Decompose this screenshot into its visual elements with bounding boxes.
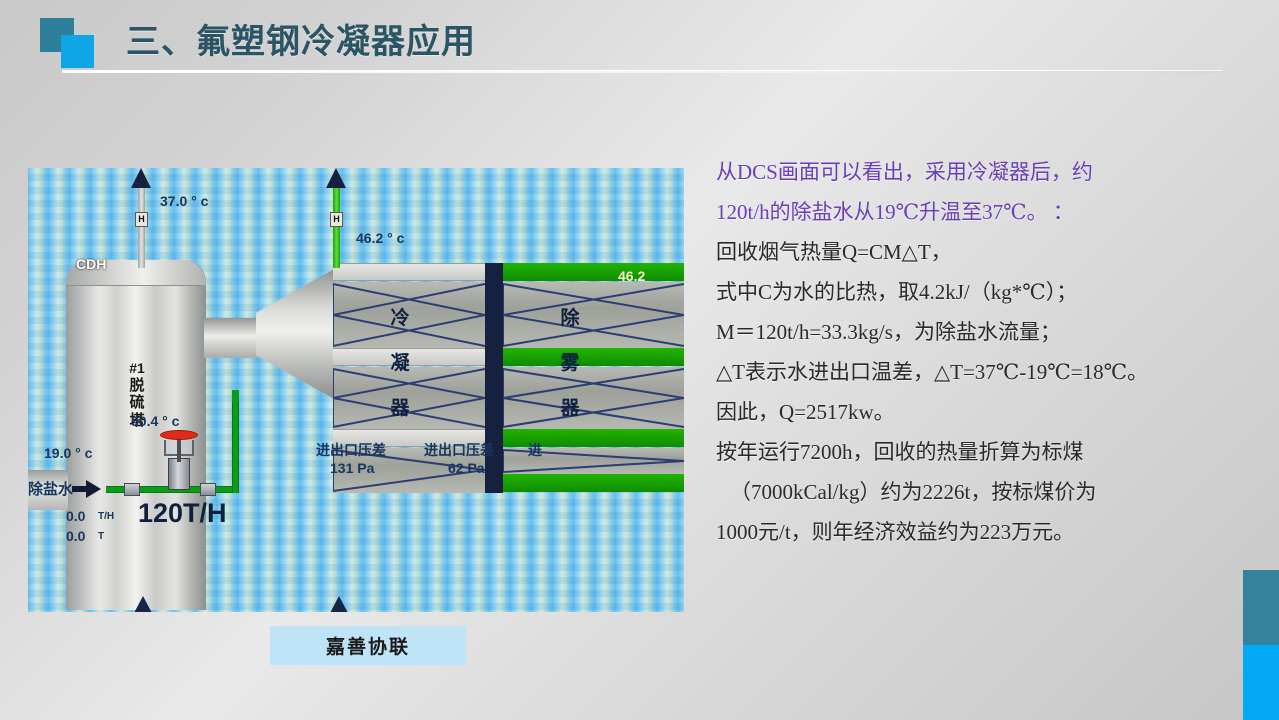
demister-stack-h-badge: H [330, 212, 343, 227]
condenser-char-1: 冷 [385, 303, 415, 330]
demister-outlet-temp: 46.2 ° c [356, 230, 404, 246]
page-title: 三、氟塑钢冷凝器应用 [126, 14, 476, 63]
demister-char-2: 雾 [555, 348, 585, 375]
body-line-7: 因此，Q=2517kw。 [716, 392, 1236, 432]
body-line-1: 从DCS画面可以看出，采用冷凝器后，约 [716, 152, 1236, 192]
demister-char-3: 器 [555, 393, 585, 420]
water-flow-rate: 0.0 [66, 508, 85, 524]
dp-label-cut: 进 [528, 440, 542, 460]
condenser-dp-value: 131 Pa [330, 460, 374, 476]
condenser-char-2: 凝 [385, 348, 415, 375]
dcs-screenshot-panel: #1 脱 硫 塔 [28, 168, 684, 612]
body-line-8: 按年运行7200h，回收的热量折算为标煤 [716, 432, 1236, 472]
condenser-char-3: 器 [385, 393, 415, 420]
tower-char-1: 脱 [114, 377, 160, 395]
demister-cross-icon [503, 282, 684, 348]
water-flow-rate-unit: T/H [98, 511, 114, 522]
condenser-tag-cdh: CDH [76, 256, 106, 272]
demister-temp-inline: 46.2 [618, 268, 645, 284]
condenser-inlet-temp: 50.4 ° c [131, 413, 179, 429]
condenser-outlet-arrow-icon [131, 168, 151, 188]
demister-char-1: 除 [555, 303, 585, 330]
valve-flange-right [200, 483, 216, 496]
title-bar: 三、氟塑钢冷凝器应用 [0, 0, 1279, 78]
bottom-arrow-icon-2 [330, 596, 348, 612]
body-line-2: 120t/h的除盐水从19℃升温至37℃。 ： [716, 192, 1236, 232]
water-total: 0.0 [66, 528, 85, 544]
tower-tag: #1 [129, 360, 145, 376]
demister-cross-icon-2 [503, 367, 684, 429]
control-valve-stem [177, 438, 181, 462]
condenser-stack [138, 186, 145, 268]
demineralized-water-line-vertical [232, 396, 239, 493]
title-divider [62, 70, 1222, 73]
decoration-square-light [61, 35, 94, 68]
demister-outlet-arrow-icon [326, 168, 346, 188]
body-line-9: （7000kCal/kg）约为2226t，按标煤价为 [716, 472, 1236, 512]
bottom-arrow-icon-1 [134, 596, 152, 612]
water-inlet-arrow-icon [86, 480, 101, 498]
body-line-10: 1000元/t，则年经济效益约为223万元。 [716, 512, 1236, 552]
water-flow-big: 120T/H [138, 498, 227, 529]
condenser-stack-h-badge: H [135, 212, 148, 227]
edge-decoration-teal [1243, 570, 1279, 645]
demister-dp-value: 62 Pa [448, 460, 485, 476]
condenser-outlet-temp: 37.0 ° c [160, 193, 208, 209]
body-line-5: M＝120t/h=33.3kg/s，为除盐水流量； [716, 312, 1236, 352]
tower-char-2: 硫 [114, 394, 160, 412]
edge-decoration-blue [1243, 645, 1279, 720]
control-valve-actuator [160, 430, 198, 440]
body-line-3: 回收烟气热量Q=CM△T， [716, 232, 1236, 272]
water-inlet-label: 除盐水 [28, 478, 73, 499]
water-total-unit: T [98, 531, 104, 542]
demineralized-water-line-elbow [232, 390, 239, 402]
demister-dp-label: 进出口压差 [424, 440, 494, 460]
body-text-block: 从DCS画面可以看出，采用冷凝器后，约 120t/h的除盐水从19℃升温至37℃… [716, 152, 1236, 552]
body-line-4: 式中C为水的比热，取4.2kJ/（kg*℃）； [716, 272, 1236, 312]
caption-badge: 嘉善协联 [270, 626, 466, 665]
pipe-expansion-cone [256, 268, 336, 400]
condenser-dp-label: 进出口压差 [316, 440, 386, 460]
body-line-6: △T表示水进出口温差，△T=37℃-19℃=18℃。 [716, 352, 1236, 392]
water-inlet-temp: 19.0 ° c [44, 445, 92, 461]
control-valve-body [168, 458, 190, 490]
valve-flange-left [124, 483, 140, 496]
demister-stack [333, 186, 340, 268]
pipe-right-stub [204, 318, 260, 358]
